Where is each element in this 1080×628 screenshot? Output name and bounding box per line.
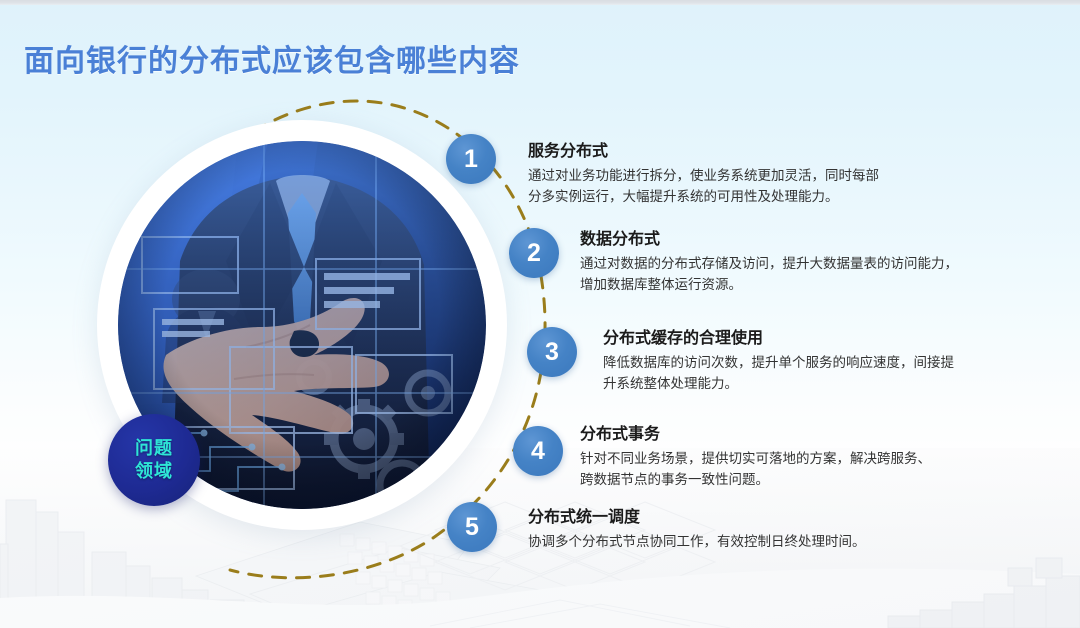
item-number-badge-1: 1: [446, 134, 496, 184]
page-title: 面向银行的分布式应该包含哪些内容: [24, 36, 520, 80]
item-number-badge-2: 2: [509, 228, 559, 278]
item-heading-5: 分布式统一调度: [528, 507, 978, 528]
slide-canvas: 问题 领域 面向银行的分布式应该包含哪些内容 1 服务分布式 通过对业务功能进行…: [0, 0, 1080, 628]
problem-domain-badge: 问题 领域: [108, 414, 200, 506]
badge-line-2: 领域: [135, 460, 173, 483]
item-body-2: 通过对数据的分布式存储及访问，提升大数据量表的访问能力， 增加数据库整体运行资源…: [580, 253, 1000, 295]
item-body-3: 降低数据库的访问次数，提升单个服务的响应速度，间接提 升系统整体处理能力。: [603, 352, 1023, 394]
item-body-4: 针对不同业务场景，提供切实可落地的方案，解决跨服务、 跨数据节点的事务一致性问题…: [580, 448, 1000, 490]
item-heading-2: 数据分布式: [580, 229, 1000, 250]
item-number-badge-5: 5: [447, 502, 497, 552]
item-heading-3: 分布式缓存的合理使用: [603, 328, 1023, 349]
item-heading-4: 分布式事务: [580, 424, 1000, 445]
badge-line-1: 问题: [135, 437, 173, 460]
item-heading-1: 服务分布式: [528, 141, 978, 162]
window-top-strip: [0, 0, 1080, 5]
item-body-1: 通过对业务功能进行拆分，使业务系统更加灵活，同时每部 分多实例运行，大幅提升系统…: [528, 165, 978, 207]
item-number-badge-4: 4: [513, 426, 563, 476]
item-body-5: 协调多个分布式节点协同工作，有效控制日终处理时间。: [528, 531, 978, 552]
item-number-badge-3: 3: [527, 327, 577, 377]
